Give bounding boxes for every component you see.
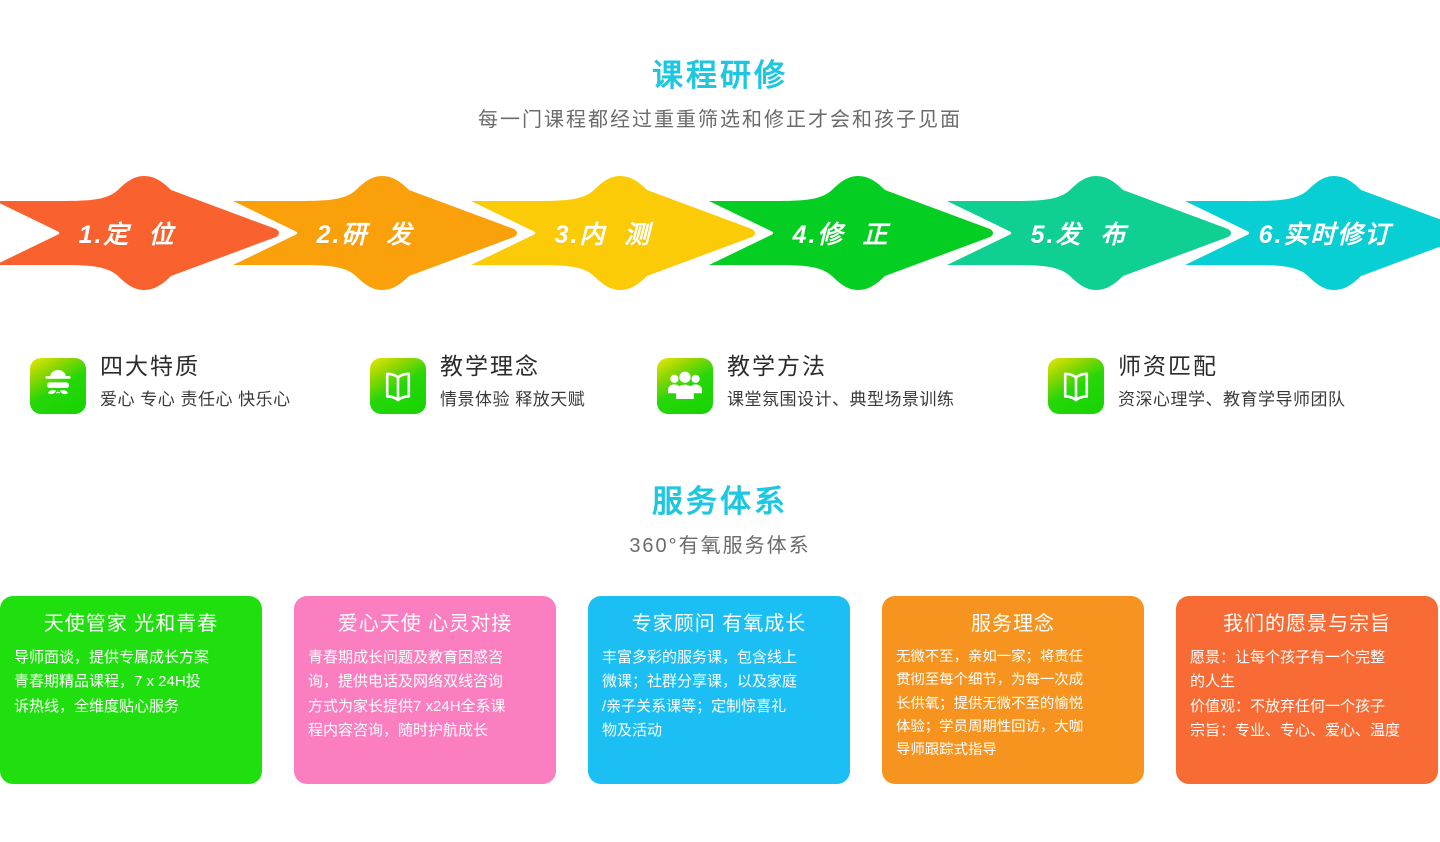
gentleman-icon — [30, 358, 86, 414]
feature-desc: 课堂氛围设计、典型场景训练 — [727, 389, 955, 411]
service-card-3[interactable]: 专家顾问 有氧成长丰富多彩的服务课，包含线上 微课；社群分享课，以及家庭 /亲子… — [588, 596, 850, 784]
service-card-title: 我们的愿景与宗旨 — [1190, 612, 1424, 636]
feature-title: 师资匹配 — [1118, 352, 1346, 381]
service-card-body: 丰富多彩的服务课，包含线上 微课；社群分享课，以及家庭 /亲子关系课等；定制惊喜… — [602, 646, 836, 743]
service-card-body: 青春期成长问题及教育困惑咨 询，提供电话及网络双线咨询 方式为家长提供7 x24… — [308, 646, 542, 743]
flow-step-label: 5.发 布 — [1031, 215, 1128, 251]
promo-page: 课程研修 每一门课程都经过重重筛选和修正才会和孩子见面 1.定 位 2.研 发 … — [0, 0, 1440, 842]
service-card-list: 天使管家 光和青春导师面谈，提供专属成长方案 青春期精品课程，7 x 24H投 … — [0, 596, 1440, 784]
flow-step-label: 2.研 发 — [317, 215, 414, 251]
service-card-body: 导师面谈，提供专属成长方案 青春期精品课程，7 x 24H投 诉热线，全维度贴心… — [14, 646, 248, 719]
feature-text: 四大特质爱心 专心 责任心 快乐心 — [100, 352, 291, 411]
courses-section-header: 课程研修 每一门课程都经过重重筛选和修正才会和孩子见面 — [0, 57, 1440, 132]
service-card-2[interactable]: 爱心天使 心灵对接青春期成长问题及教育困惑咨 询，提供电话及网络双线咨询 方式为… — [294, 596, 556, 784]
service-card-1[interactable]: 天使管家 光和青春导师面谈，提供专属成长方案 青春期精品课程，7 x 24H投 … — [0, 596, 262, 784]
gentleman-icon — [38, 366, 78, 406]
service-card-title: 天使管家 光和青春 — [14, 612, 248, 636]
service-card-title: 爱心天使 心灵对接 — [308, 612, 542, 636]
service-card-title: 专家顾问 有氧成长 — [602, 612, 836, 636]
feature-item-1[interactable]: 四大特质爱心 专心 责任心 快乐心 — [30, 352, 291, 414]
feature-title: 四大特质 — [100, 352, 291, 381]
service-section-header: 服务体系 360°有氧服务体系 — [0, 483, 1440, 558]
feature-text: 师资匹配资深心理学、教育学导师团队 — [1118, 352, 1346, 411]
flow-step-label: 4.修 正 — [793, 215, 890, 251]
service-card-4[interactable]: 服务理念无微不至，亲如一家；将责任 贯彻至每个细节，为每一次成 长供氧；提供无微… — [882, 596, 1144, 784]
open-book-icon — [370, 358, 426, 414]
feature-text: 教学方法课堂氛围设计、典型场景训练 — [727, 352, 955, 411]
flow-step-1[interactable]: 1.定 位 — [0, 168, 284, 298]
people-group-icon — [657, 358, 713, 414]
feature-desc: 情景体验 释放天赋 — [440, 389, 585, 411]
courses-section-title: 课程研修 — [0, 57, 1440, 94]
service-section-subtitle: 360°有氧服务体系 — [0, 534, 1440, 558]
service-card-body: 无微不至，亲如一家；将责任 贯彻至每个细节，为每一次成 长供氧；提供无微不至的愉… — [896, 646, 1130, 763]
service-section-title: 服务体系 — [0, 483, 1440, 520]
feature-desc: 资深心理学、教育学导师团队 — [1118, 389, 1346, 411]
feature-text: 教学理念情景体验 释放天赋 — [440, 352, 585, 411]
flow-step-label: 1.定 位 — [79, 215, 176, 251]
flow-step-label: 3.内 测 — [555, 215, 652, 251]
open-book-icon — [1056, 366, 1096, 406]
feature-list: 四大特质爱心 专心 责任心 快乐心 教学理念情景体验 释放天赋 教学方法课堂氛围… — [0, 352, 1440, 436]
feature-item-3[interactable]: 教学方法课堂氛围设计、典型场景训练 — [657, 352, 955, 414]
service-card-body: 愿景：让每个孩子有一个完整 的人生 价值观：不放弃任何一个孩子 宗旨：专业、专心… — [1190, 646, 1424, 743]
feature-item-2[interactable]: 教学理念情景体验 释放天赋 — [370, 352, 585, 414]
service-card-5[interactable]: 我们的愿景与宗旨愿景：让每个孩子有一个完整 的人生 价值观：不放弃任何一个孩子 … — [1176, 596, 1438, 784]
open-book-icon — [378, 366, 418, 406]
feature-desc: 爱心 专心 责任心 快乐心 — [100, 389, 291, 411]
open-book-icon — [1048, 358, 1104, 414]
feature-item-4[interactable]: 师资匹配资深心理学、教育学导师团队 — [1048, 352, 1346, 414]
feature-title: 教学理念 — [440, 352, 585, 381]
service-card-title: 服务理念 — [896, 612, 1130, 636]
courses-section-subtitle: 每一门课程都经过重重筛选和修正才会和孩子见面 — [0, 108, 1440, 132]
process-flow: 1.定 位 2.研 发 3.内 测 4.修 正 5.发 布 6.实时修订 — [0, 168, 1440, 298]
people-group-icon — [665, 366, 705, 406]
feature-title: 教学方法 — [727, 352, 955, 381]
flow-step-label: 6.实时修订 — [1259, 215, 1392, 251]
